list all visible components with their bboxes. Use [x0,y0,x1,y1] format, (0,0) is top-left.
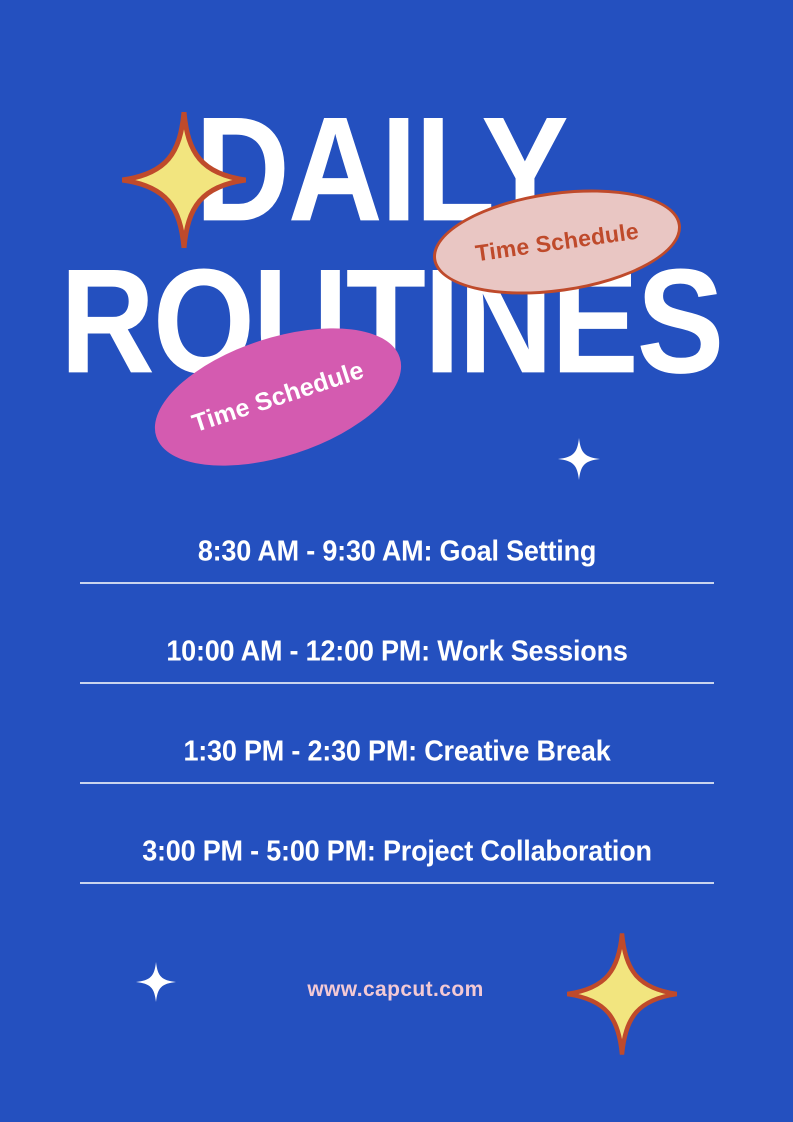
four-point-star-icon [567,933,677,1055]
schedule-item: 3:00 PM - 5:00 PM: Project Collaboration [80,816,714,916]
schedule-item: 1:30 PM - 2:30 PM: Creative Break [80,716,714,816]
schedule-list: 8:30 AM - 9:30 AM: Goal Setting 10:00 AM… [80,516,714,916]
schedule-item-label: 8:30 AM - 9:30 AM: Goal Setting [80,535,714,568]
schedule-item-label: 10:00 AM - 12:00 PM: Work Sessions [80,635,714,668]
schedule-item-label: 3:00 PM - 5:00 PM: Project Collaboration [80,835,714,868]
schedule-divider [80,582,714,584]
schedule-divider [80,782,714,784]
schedule-divider [80,882,714,884]
badge-label: Time Schedule [474,217,641,267]
badge-label: Time Schedule [189,356,368,439]
schedule-divider [80,682,714,684]
poster-canvas: DAILY ROUTINES Time Schedule Time Schedu… [0,0,793,1122]
four-point-star-icon [122,112,246,248]
sparkle-icon [558,438,600,480]
schedule-item: 8:30 AM - 9:30 AM: Goal Setting [80,516,714,616]
schedule-item-label: 1:30 PM - 2:30 PM: Creative Break [80,735,714,768]
schedule-item: 10:00 AM - 12:00 PM: Work Sessions [80,616,714,716]
